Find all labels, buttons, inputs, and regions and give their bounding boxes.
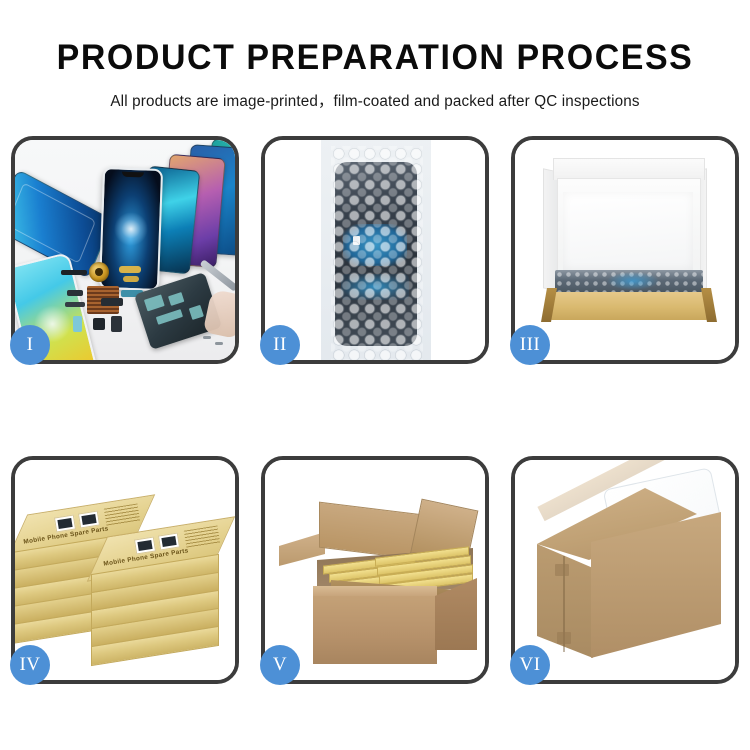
step-badge-4: IV (10, 645, 50, 685)
step-panel-5: V (261, 456, 489, 684)
vibration-motor-icon (89, 262, 109, 282)
step-badge-6: VI (510, 645, 550, 685)
page-header: PRODUCT PREPARATION PROCESS All products… (0, 0, 750, 111)
sim-tray-icon (73, 316, 82, 332)
connector-icon (123, 276, 139, 282)
earpiece-icon (101, 298, 123, 306)
screw-icon (203, 336, 211, 339)
parts-layout-illustration (15, 140, 235, 360)
step-panel-6: VI (511, 456, 739, 684)
step-image-4: Mobile Phone Spare Parts (15, 460, 235, 680)
box-thumb-1 (54, 515, 76, 533)
product-preparation-infographic: PRODUCT PREPARATION PROCESS All products… (0, 0, 750, 750)
step-image-1 (15, 140, 235, 360)
button-part-icon (93, 318, 105, 330)
step-panel-3: III (511, 136, 739, 364)
step-panel-2: II (261, 136, 489, 364)
flex-cable-2-icon (65, 302, 85, 307)
step-image-2 (265, 140, 485, 360)
bubble-wrap-illustration (265, 140, 485, 360)
sealed-carton-illustration (515, 460, 735, 680)
steps-grid: I (11, 136, 739, 684)
foam-padding (563, 192, 693, 270)
box-thumb-3 (134, 537, 156, 555)
steps-row-1: I (11, 136, 739, 364)
page-title: PRODUCT PREPARATION PROCESS (11, 40, 739, 75)
step-badge-3: III (510, 325, 550, 365)
carton-filling-illustration (265, 460, 485, 680)
taptic-engine-icon (111, 316, 122, 332)
step-image-3 (515, 140, 735, 360)
box-lid (553, 158, 705, 180)
speaker-part-icon (61, 270, 87, 275)
carton-mark-bottom (557, 632, 571, 644)
box-thumb-4 (158, 533, 180, 551)
step-badge-5: V (260, 645, 300, 685)
step-badge-2: II (260, 325, 300, 365)
step-panel-1: I (11, 136, 239, 364)
wrap-sheet (321, 140, 431, 360)
step-image-5 (265, 460, 485, 680)
screw-2-icon (215, 342, 223, 345)
steps-row-2: Mobile Phone Spare Parts (11, 456, 739, 684)
carton-flap-back (319, 502, 423, 561)
box-thumb-2 (78, 511, 100, 529)
page-subtitle: All products are image-printed，film-coat… (4, 89, 747, 111)
flex-cable-icon (67, 290, 83, 296)
step-badge-1: I (10, 325, 50, 365)
carton-front-face (313, 596, 437, 664)
bubble-texture-offset (331, 146, 423, 360)
camera-flex-icon (119, 266, 141, 273)
step-panel-4: Mobile Phone Spare Parts (11, 456, 239, 684)
wrapped-item-in-box (555, 270, 703, 294)
carton-mark-top (555, 564, 569, 576)
box-front-panel (549, 292, 709, 320)
inner-box-illustration (515, 140, 735, 360)
box-stack-illustration: Mobile Phone Spare Parts (15, 460, 235, 680)
step-image-6 (515, 460, 735, 680)
